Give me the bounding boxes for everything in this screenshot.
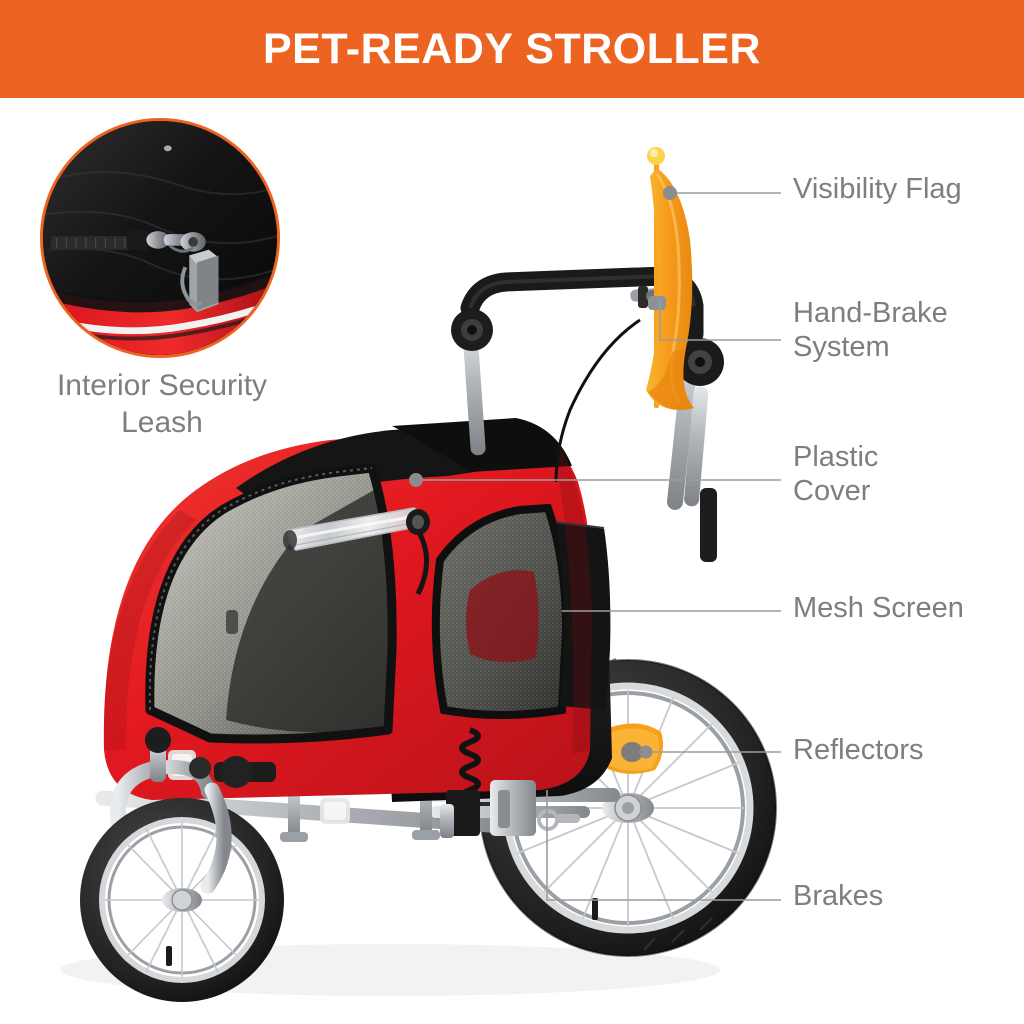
callout-label-reflectors: Reflectors — [793, 733, 924, 767]
callout-label-brakes: Brakes — [793, 879, 883, 913]
inset-caption-line1: Interior Security — [18, 368, 306, 405]
inset-circle-frame — [40, 118, 280, 358]
interior-security-leash-photo — [43, 121, 277, 355]
pivot-knob-left — [451, 309, 493, 351]
inset-detail: Interior Security Leash — [40, 118, 280, 358]
page-title: PET-READY STROLLER — [263, 28, 761, 71]
brake-cable — [556, 320, 640, 482]
inset-caption: Interior Security Leash — [18, 368, 306, 441]
header-banner: PET-READY STROLLER — [0, 0, 1024, 98]
mesh-screen-window-right — [436, 508, 566, 715]
callout-label-visibility-flag: Visibility Flag — [793, 172, 962, 206]
inset-caption-line2: Leash — [18, 405, 306, 442]
callout-label-hand-brake-system: Hand-Brake System — [793, 296, 948, 364]
callout-label-plastic-cover: Plastic Cover — [793, 440, 878, 508]
valve-stem — [592, 898, 598, 920]
infographic-page: PET-READY STROLLER — [0, 0, 1024, 1024]
callout-label-mesh-screen: Mesh Screen — [793, 591, 964, 625]
